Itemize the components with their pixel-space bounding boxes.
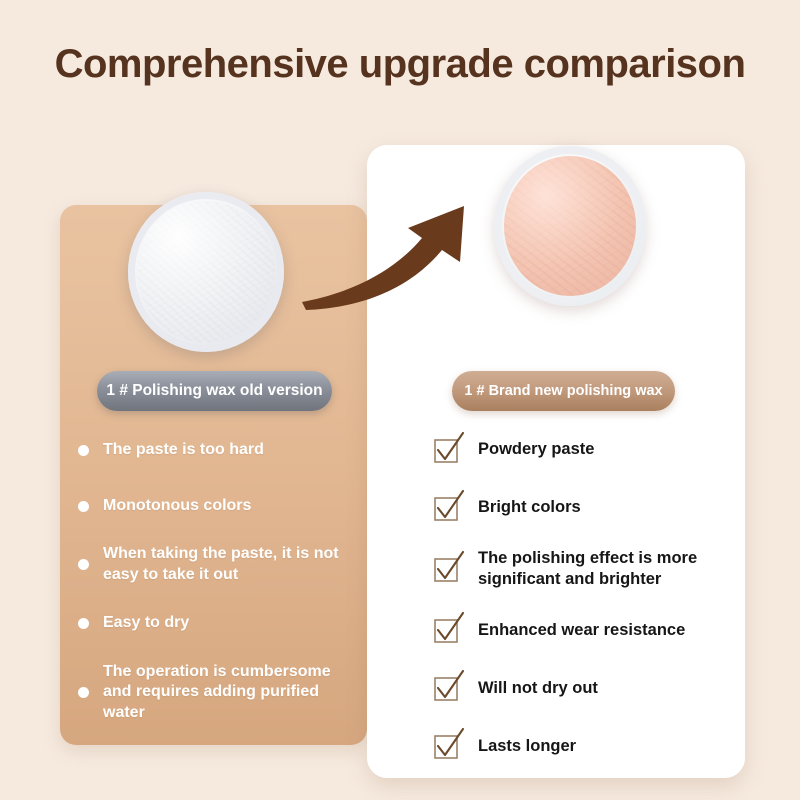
list-item: The paste is too hard [78, 432, 358, 468]
old-jar-rim [128, 192, 284, 352]
list-item: Enhanced wear resistance [434, 612, 734, 648]
bullet-icon [78, 501, 89, 512]
checkmark-icon [434, 675, 460, 701]
bullet-icon [78, 687, 89, 698]
old-feature-label: The paste is too hard [103, 440, 264, 461]
list-item: Lasts longer [434, 728, 734, 764]
checkmark-icon [434, 733, 460, 759]
page-title: Comprehensive upgrade comparison [0, 42, 800, 87]
list-item: Monotonous colors [78, 488, 358, 524]
new-jar-rim [494, 146, 646, 306]
new-version-feature-list: Powdery paste Bright colors The polishin… [434, 432, 734, 786]
old-feature-label: When taking the paste, it is not easy to… [103, 544, 358, 586]
list-item: Powdery paste [434, 432, 734, 468]
checkmark-icon [434, 617, 460, 643]
new-feature-label: The polishing effect is more significant… [478, 548, 734, 590]
new-feature-label: Lasts longer [478, 736, 576, 757]
old-feature-label: Monotonous colors [103, 496, 251, 517]
bullet-icon [78, 618, 89, 629]
old-version-badge: 1 # Polishing wax old version [97, 371, 332, 411]
new-feature-label: Will not dry out [478, 678, 598, 699]
list-item: Will not dry out [434, 670, 734, 706]
upgrade-arrow-icon [288, 190, 488, 320]
checkmark-icon [434, 495, 460, 521]
list-item: Easy to dry [78, 606, 358, 642]
old-version-feature-list: The paste is too hard Monotonous colors … [78, 432, 358, 744]
new-feature-label: Powdery paste [478, 439, 594, 460]
new-feature-label: Enhanced wear resistance [478, 620, 685, 641]
list-item: Bright colors [434, 490, 734, 526]
list-item: The operation is cumbersome and requires… [78, 662, 358, 724]
list-item: When taking the paste, it is not easy to… [78, 544, 358, 586]
old-feature-label: The operation is cumbersome and requires… [103, 662, 358, 724]
new-polishing-wax-jar-image [494, 146, 646, 306]
new-feature-label: Bright colors [478, 497, 581, 518]
checkmark-icon [434, 556, 460, 582]
bullet-icon [78, 445, 89, 456]
new-version-badge-label: 1 # Brand new polishing wax [464, 383, 662, 399]
checkmark-icon [434, 437, 460, 463]
bullet-icon [78, 559, 89, 570]
new-version-badge: 1 # Brand new polishing wax [452, 371, 675, 411]
old-polishing-wax-jar-image [128, 192, 284, 352]
list-item: The polishing effect is more significant… [434, 548, 734, 590]
old-feature-label: Easy to dry [103, 613, 189, 634]
old-version-badge-label: 1 # Polishing wax old version [106, 382, 322, 400]
